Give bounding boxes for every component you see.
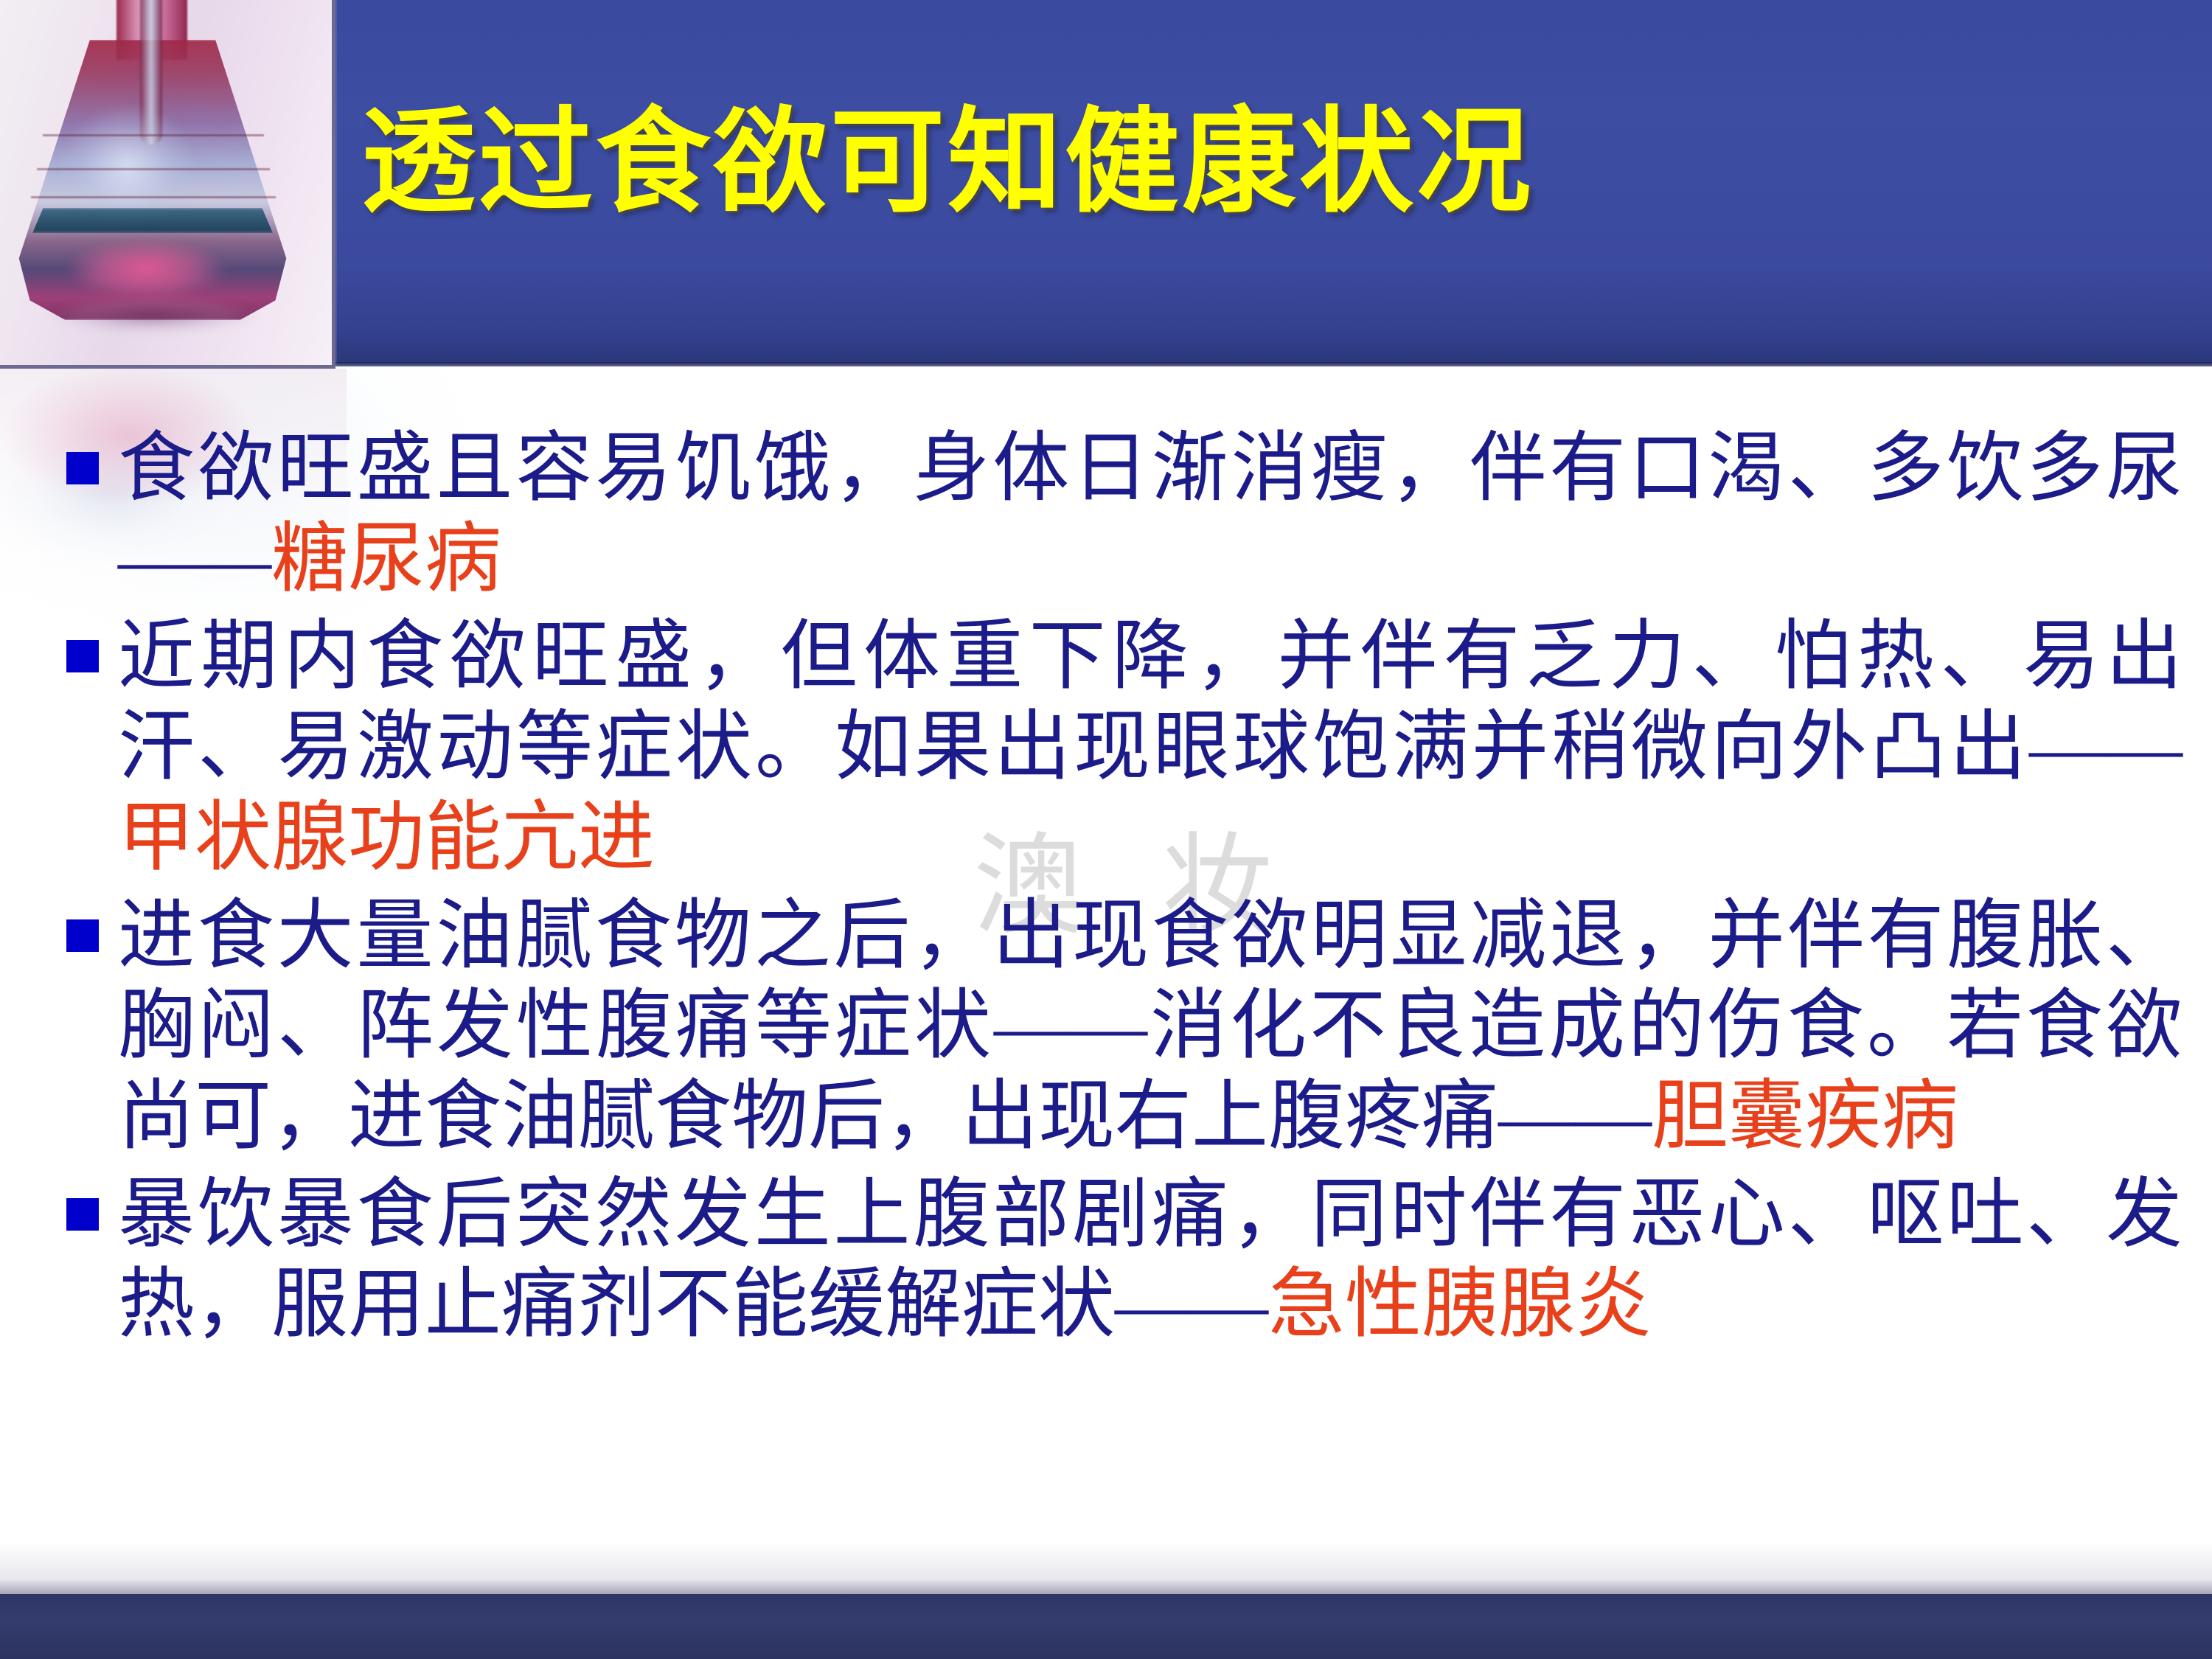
flask-graduation-line [31,196,276,198]
bullet-3-diagnosis-b: 胆囊疾病 [1652,1074,1958,1159]
flask-graduation-line [37,168,270,170]
bullet-text-1: 食欲旺盛且容易饥饿，身体日渐消瘦，伴有口渴、多饮多尿——糖尿病 [118,424,2183,605]
square-bullet-icon [66,640,99,672]
presentation-slide: 透过食欲可知健康状况 澳 妆 食欲旺盛且容易饥饿，身体日渐消瘦，伴有口渴、多饮多… [0,0,2212,1659]
slide-footer-bar [0,1594,2212,1659]
list-item: 进食大量油腻食物之后，出现食欲明显减退，并伴有腹胀、胸闷、阵发性腹痛等症状——消… [66,891,2183,1163]
list-item: 暴饮暴食后突然发生上腹部剧痛，同时伴有恶心、呕吐、发热，服用止痛剂不能缓解症状—… [66,1170,2183,1351]
flask-liquid-band [19,208,286,233]
bullet-1-diagnosis: 糖尿病 [271,517,501,602]
flask-graduation-line [43,134,264,136]
bullet-4-body: 暴饮暴食后突然发生上腹部剧痛，同时伴有恶心、呕吐、发热，服用止痛剂不能缓解症状—… [118,1172,2183,1348]
slide-body: 食欲旺盛且容易饥饿，身体日渐消瘦，伴有口渴、多饮多尿——糖尿病 近期内食欲旺盛，… [66,424,2183,1358]
bullet-3-diagnosis-a: 消化不良造成的伤食 [1147,984,1867,1068]
bullet-2-body: 近期内食欲旺盛，但体重下降，并伴有乏力、怕热、易出汗、易激动等症状。如果出现眼球… [118,614,2183,790]
slide-title: 透过食欲可知健康状况 [361,103,2131,223]
bullet-text-2: 近期内食欲旺盛，但体重下降，并伴有乏力、怕热、易出汗、易激动等症状。如果出现眼球… [118,612,2183,883]
bullet-text-4: 暴饮暴食后突然发生上腹部剧痛，同时伴有恶心、呕吐、发热，服用止痛剂不能缓解症状—… [118,1170,2183,1351]
bullet-4-diagnosis: 急性胰腺炎 [1268,1262,1652,1347]
square-bullet-icon [66,1198,99,1231]
erlenmeyer-flask-photo [0,0,335,369]
bullet-2-diagnosis: 甲状腺功能亢进 [118,796,655,880]
flask-pink-glow [54,236,238,302]
square-bullet-icon [66,452,99,484]
bottom-fade-divider [0,1543,2212,1594]
list-item: 近期内食欲旺盛，但体重下降，并伴有乏力、怕热、易出汗、易激动等症状。如果出现眼球… [66,612,2183,883]
list-item: 食欲旺盛且容易饥饿，身体日渐消瘦，伴有口渴、多饮多尿——糖尿病 [66,424,2183,605]
square-bullet-icon [66,919,99,952]
bullet-text-3: 进食大量油腻食物之后，出现食欲明显减退，并伴有腹胀、胸闷、阵发性腹痛等症状——消… [118,891,2183,1163]
flask-illustration [13,0,308,333]
flask-base-shadow [35,295,271,335]
